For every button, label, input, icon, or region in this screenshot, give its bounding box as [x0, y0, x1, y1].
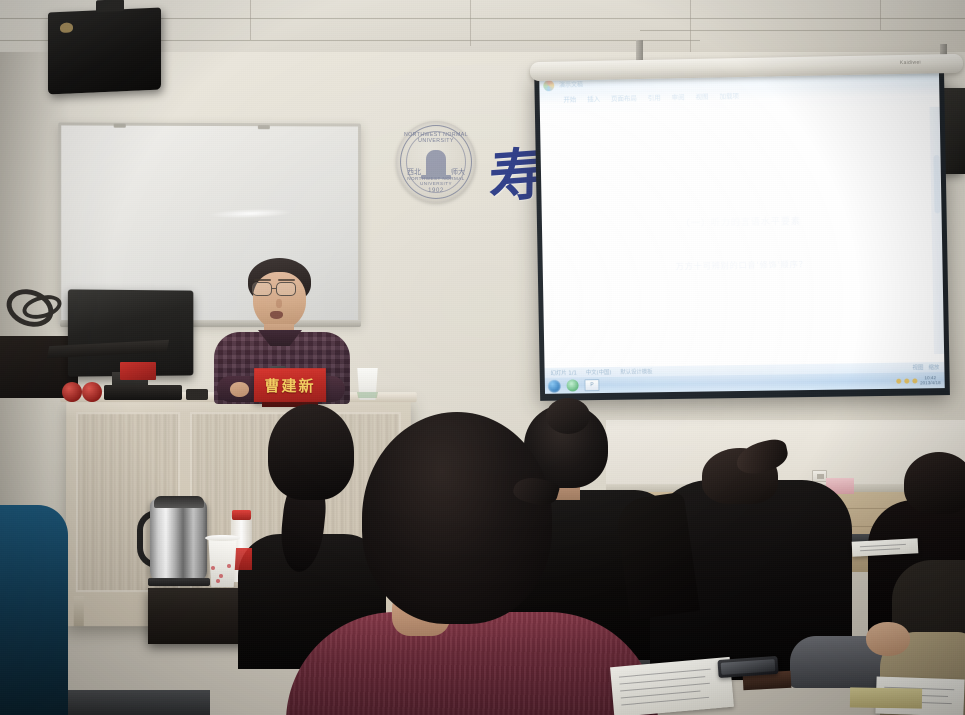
red-device	[120, 362, 156, 380]
nameplate-text: 曹建新	[264, 375, 315, 396]
electric-kettle	[150, 499, 207, 582]
ribbon-tab-review[interactable]: 审阅	[672, 91, 685, 101]
status-slide-count: 幻灯片 1/1	[551, 368, 577, 376]
attendee-teal	[0, 505, 70, 715]
presenter-hand	[230, 382, 249, 397]
yellow-notepad	[850, 687, 922, 708]
status-language: 中文(中国)	[586, 368, 612, 376]
attendee-maroon-top	[318, 412, 618, 715]
blue-calligraphy-character: 寿	[488, 144, 541, 214]
kettle-base	[148, 578, 210, 586]
presentation-app-icon[interactable]: P	[584, 379, 599, 391]
seal-arc-bottom-text: NORTHWEST NORMAL UNIVERSITY	[396, 176, 476, 186]
attendee-hand	[866, 622, 910, 656]
slide-heading: （一）听力的言语水平要素	[542, 211, 942, 231]
vertical-scrollbar[interactable]	[933, 155, 940, 213]
browser-icon[interactable]	[567, 379, 579, 391]
presenter-nameplate: 曹建新	[254, 368, 326, 402]
taskbar-clock-date[interactable]: 2013/4/18	[920, 380, 941, 385]
red-round-object	[82, 382, 102, 402]
ribbon-tab-view[interactable]: 视图	[695, 90, 708, 100]
eyeglasses-icon	[252, 282, 272, 296]
presenter-eyebrow	[278, 279, 295, 281]
projection-screen: 演示文稿 开始 插入 页面布局 引用 审阅 视图 加载项 （一）听力的言语水平要…	[534, 63, 950, 400]
ribbon-tab-layout[interactable]: 页面布局	[611, 92, 637, 103]
seal-year: 1902	[396, 188, 476, 194]
status-bar-right: 视图 缩放	[912, 363, 939, 371]
speaker-badge-icon	[60, 22, 73, 33]
black-device	[104, 385, 182, 400]
paper-cup-band	[356, 392, 379, 398]
office-orb-icon[interactable]	[543, 80, 554, 91]
phone-screen[interactable]	[721, 659, 776, 675]
presenter-nose	[276, 299, 282, 308]
ribbon-tab-addins[interactable]: 加载项	[719, 90, 739, 100]
bottle-cap	[232, 510, 251, 520]
ribbon-tab-references[interactable]: 引用	[648, 91, 661, 101]
projected-desktop: 演示文稿 开始 插入 页面布局 引用 审阅 视图 加载项 （一）听力的言语水平要…	[539, 70, 945, 394]
seal-bell-icon	[426, 150, 446, 176]
document-title: 演示文稿	[559, 79, 583, 88]
ribbon-tab-insert[interactable]: 插入	[587, 93, 600, 103]
tray-icon[interactable]	[896, 378, 901, 383]
small-device	[186, 389, 208, 400]
lecture-hall-photo: NORTHWEST NORMAL UNIVERSITY 西北 师大 NORTHW…	[0, 0, 965, 715]
whiteboard-glare	[210, 208, 292, 220]
ceiling-speaker-left-icon	[48, 8, 161, 95]
eyeglasses-bridge	[272, 288, 277, 289]
ribbon-tab-home[interactable]: 开始	[563, 93, 576, 103]
start-button-icon[interactable]	[548, 379, 561, 392]
kettle-lid	[154, 496, 204, 508]
roller-brand-logo: Kaidiwei	[900, 60, 921, 66]
presenter-eyebrow	[254, 279, 271, 281]
tray-icon[interactable]	[904, 378, 909, 383]
floral-paper-cup	[206, 537, 239, 587]
eyeglasses-icon	[276, 282, 296, 296]
slide-body-text: 万方十可辨别的口音'修饰'顺序？	[543, 255, 943, 274]
red-round-object	[62, 382, 82, 402]
status-zoom-control[interactable]: 缩放	[928, 363, 939, 371]
system-tray: 10:42 2013/4/18	[896, 375, 941, 386]
status-view-buttons[interactable]: 视图	[912, 363, 923, 371]
open-notebook	[610, 657, 734, 715]
seal-arc-top-text: NORTHWEST NORMAL UNIVERSITY	[396, 132, 476, 144]
slide-canvas: （一）听力的言语水平要素 万方十可辨别的口音'修饰'顺序？	[540, 107, 944, 360]
tray-icon[interactable]	[912, 378, 917, 383]
floral-cup-rim	[205, 535, 240, 541]
status-template: 默认设计模板	[620, 367, 652, 375]
northwest-normal-university-seal: NORTHWEST NORMAL UNIVERSITY 西北 师大 NORTHW…	[396, 121, 476, 203]
presenter-mouth	[270, 311, 283, 319]
